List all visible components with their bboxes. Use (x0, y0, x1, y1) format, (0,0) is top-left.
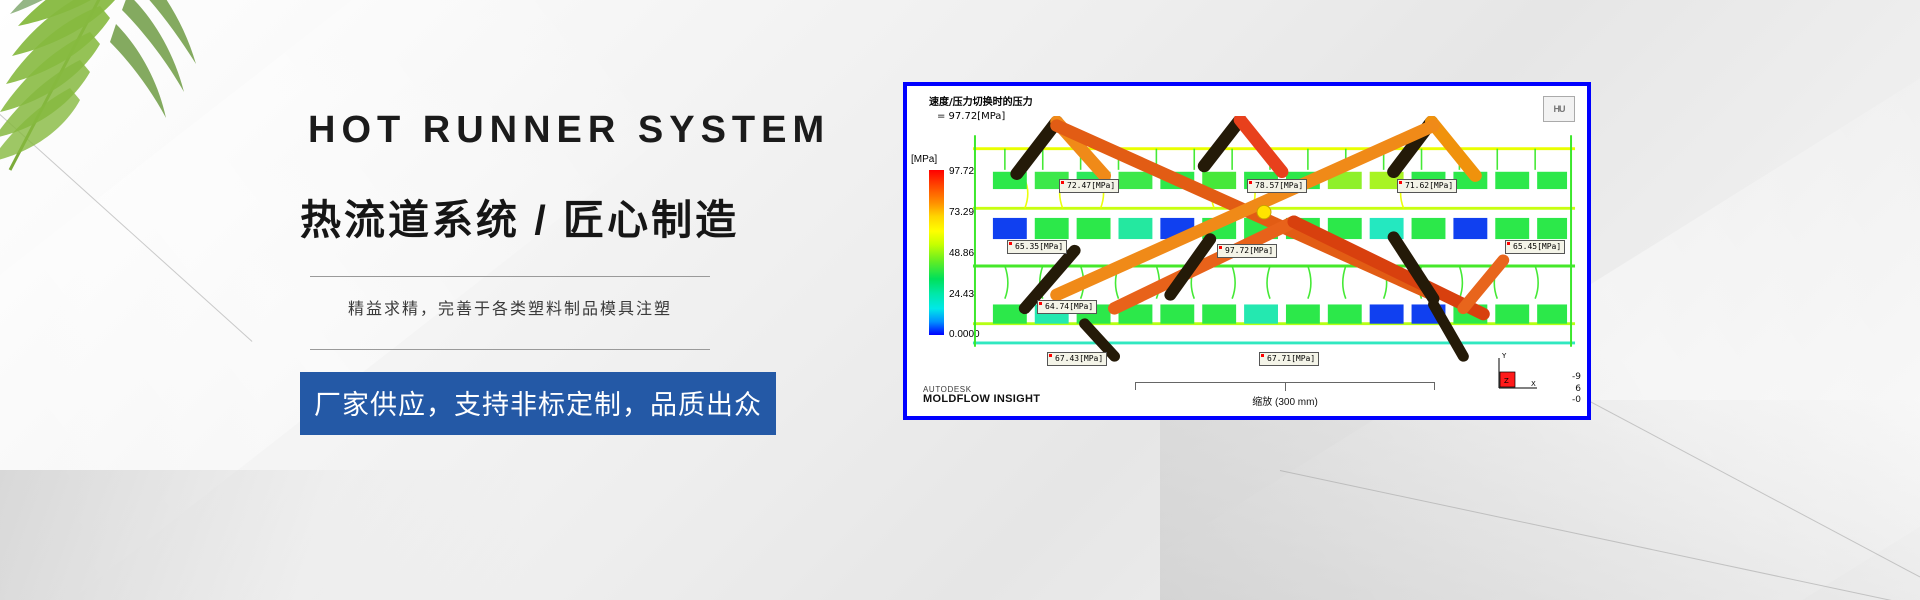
page-subtitle-cn: 热流道系统 / 匠心制造 (300, 186, 720, 246)
measurement-label: 71.62[MPa] (1397, 179, 1457, 193)
status-badge: 厂家供应，支持非标定制，品质出众 (300, 372, 776, 435)
page-title: HOT RUNNER SYSTEM (308, 110, 720, 152)
divider-bottom (310, 349, 710, 350)
measurement-label: 67.43[MPa] (1047, 352, 1107, 366)
scale-bar-midtick (1285, 383, 1286, 391)
measurement-label: 67.71[MPa] (1259, 352, 1319, 366)
svg-text:Z: Z (1504, 377, 1509, 385)
svg-text:Y: Y (1501, 352, 1507, 360)
hero-banner: HOT RUNNER SYSTEM 热流道系统 / 匠心制造 精益求精，完善于各… (0, 0, 1920, 600)
measurement-label: 65.45[MPa] (1505, 240, 1565, 254)
scale-bar-label: 缩放 (300 mm) (1135, 393, 1435, 408)
colorbar (929, 170, 944, 335)
figure-title-line1: 速度/压力切换时的压力 (929, 96, 1033, 110)
brand-moldflow: MOLDFLOW INSIGHT (923, 394, 1040, 406)
measurement-label: 72.47[MPa] (1059, 179, 1119, 193)
triad-value-0: -9 (1572, 372, 1581, 383)
measurement-label: 78.57[MPa] (1247, 179, 1307, 193)
measurement-label: 97.72[MPa] (1217, 244, 1277, 258)
tagline: 精益求精，完善于各类塑料制品模具注塑 (300, 295, 720, 319)
palm-leaf-decoration (0, 0, 300, 260)
figure-inner: 速度/压力切换时的压力 = 97.72[MPa] HU [MPa] 97.72 … (907, 86, 1587, 416)
figure-footer: AUTODESK MOLDFLOW INSIGHT 缩放 (300 mm) Y … (907, 366, 1587, 412)
triad-value-1: 6 (1572, 384, 1581, 395)
moldflow-figure: 速度/压力切换时的压力 = 97.72[MPa] HU [MPa] 97.72 … (903, 82, 1591, 420)
svg-text:X: X (1531, 380, 1536, 388)
measurement-label: 65.35[MPa] (1007, 240, 1067, 254)
divider-top (310, 276, 710, 277)
corner-shade-bottom-right (1160, 400, 1920, 600)
colorbar-unit-label: [MPa] (911, 154, 937, 165)
diagonal-edge-line-3 (1280, 470, 1920, 600)
triad-values: -9 6 -0 (1572, 372, 1581, 406)
hero-text-block: HOT RUNNER SYSTEM 热流道系统 / 匠心制造 精益求精，完善于各… (300, 110, 720, 435)
measurement-label: 64.74[MPa] (1037, 300, 1097, 314)
diagonal-edge-line-1 (0, 60, 252, 342)
scale-bar (1135, 382, 1435, 390)
corner-shade-bottom-left (0, 470, 520, 600)
autodesk-brand: AUTODESK MOLDFLOW INSIGHT (923, 386, 1040, 406)
axis-triad-icon: Y X Z (1491, 352, 1545, 394)
triad-value-2: -0 (1572, 395, 1581, 406)
